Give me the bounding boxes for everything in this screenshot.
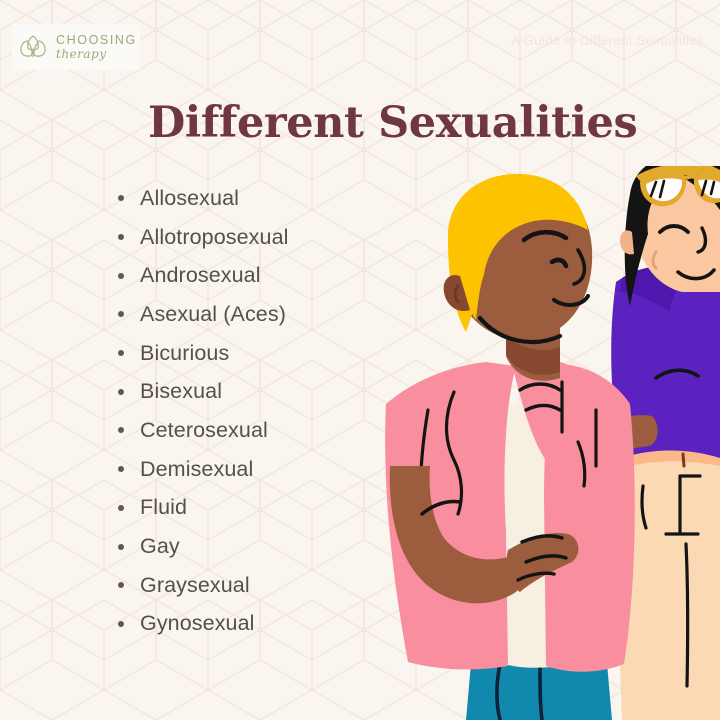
- list-item-label: Ceterosexual: [140, 418, 268, 443]
- bullet-icon: [118, 273, 124, 279]
- list-item-label: Asexual (Aces): [140, 302, 286, 327]
- poster-canvas: CHOOSING therapy A Guide to Different Se…: [0, 0, 720, 720]
- list-item-label: Gay: [140, 534, 180, 559]
- list-item-label: Allosexual: [140, 186, 239, 211]
- two-people-embracing-illustration: [330, 166, 720, 720]
- brand-logo[interactable]: CHOOSING therapy: [12, 24, 140, 70]
- list-item-label: Bicurious: [140, 341, 229, 366]
- bullet-icon: [118, 621, 124, 627]
- lotus-leaf-icon: [16, 30, 50, 64]
- bullet-icon: [118, 466, 124, 472]
- person-left-figure: [385, 174, 658, 720]
- logo-brand-name: CHOOSING: [56, 34, 137, 47]
- bullet-icon: [118, 389, 124, 395]
- list-item-label: Graysexual: [140, 573, 250, 598]
- bullet-icon: [118, 311, 124, 317]
- bullet-icon: [118, 195, 124, 201]
- list-item-label: Allotroposexual: [140, 225, 289, 250]
- logo-brand-subname: therapy: [56, 48, 137, 60]
- guide-tagline: A Guide to Different Sexualities: [511, 33, 704, 48]
- list-item-label: Demisexual: [140, 457, 253, 482]
- page-title: Different Sexualities: [148, 98, 637, 148]
- bullet-icon: [118, 505, 124, 511]
- bullet-icon: [118, 350, 124, 356]
- list-item-label: Bisexual: [140, 379, 222, 404]
- sunglasses-icon: [636, 166, 720, 206]
- bullet-icon: [118, 582, 124, 588]
- list-item-label: Gynosexual: [140, 611, 255, 636]
- bullet-icon: [118, 427, 124, 433]
- bullet-icon: [118, 234, 124, 240]
- bullet-icon: [118, 544, 124, 550]
- list-item-label: Fluid: [140, 495, 187, 520]
- list-item-label: Androsexual: [140, 263, 261, 288]
